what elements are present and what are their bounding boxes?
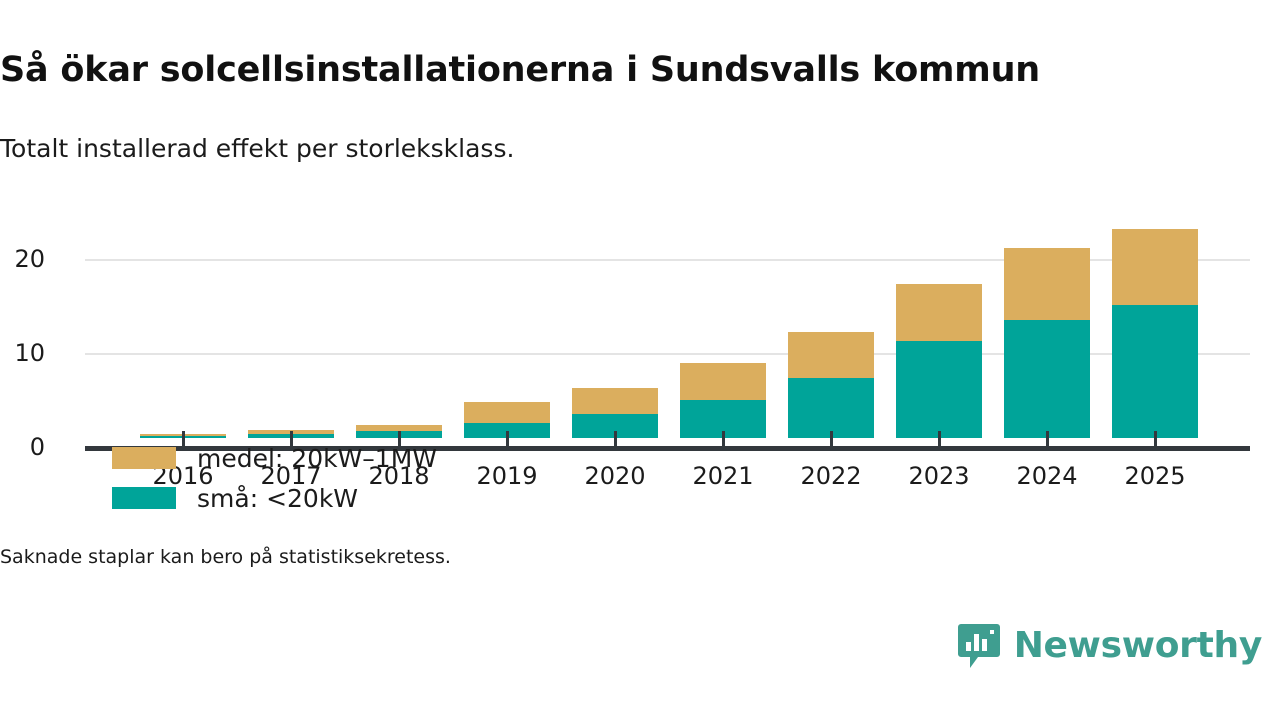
bar-segment-medium-2022[interactable] [788, 332, 874, 378]
x-axis-tick-2022 [830, 431, 833, 448]
x-axis-label-2022: 2022 [771, 462, 891, 490]
legend-swatch-medium-icon [112, 447, 176, 469]
legend-item-medium[interactable]: medel: 20kW–1MW [112, 438, 437, 478]
bar-segment-medium-2020[interactable] [572, 388, 658, 414]
y-axis-tick-label-20: 20 [0, 247, 45, 271]
bar-segment-medium-2023[interactable] [896, 284, 982, 341]
page-subtitle: Totalt installerad effekt per storlekskl… [0, 132, 1250, 166]
x-axis-tick-2019 [506, 431, 509, 448]
x-axis-label-2025: 2025 [1095, 462, 1215, 490]
legend-swatch-small-icon [112, 487, 176, 509]
x-axis-label-2021: 2021 [663, 462, 783, 490]
x-axis-tick-2024 [1046, 431, 1049, 448]
y-axis-tick-label-0: 0 [0, 435, 45, 459]
bar-segment-small-2024[interactable] [1004, 320, 1090, 438]
legend-label-small: små: <20kW [197, 486, 358, 511]
bar-segment-medium-2025[interactable] [1112, 229, 1198, 305]
y-axis-tick-label-10: 10 [0, 341, 45, 365]
chart-footnote: Saknade staplar kan bero på statistiksek… [0, 546, 451, 568]
x-axis-label-2024: 2024 [987, 462, 1107, 490]
x-axis-label-2020: 2020 [555, 462, 675, 490]
newsworthy-logo-text: Newsworthy [1014, 628, 1262, 664]
bar-segment-small-2023[interactable] [896, 341, 982, 438]
legend-label-medium: medel: 20kW–1MW [197, 446, 437, 471]
x-axis-tick-2020 [614, 431, 617, 448]
bar-series-container: 2016 2017 2018 2019 2020 2021 2022 2023 … [85, 210, 1250, 448]
bar-segment-medium-2024[interactable] [1004, 248, 1090, 320]
chart-page: Så ökar solcellsinstallationerna i Sunds… [0, 0, 1280, 720]
chart-legend: medel: 20kW–1MW små: <20kW [112, 438, 437, 518]
x-axis-tick-2021 [722, 431, 725, 448]
bar-segment-small-2025[interactable] [1112, 305, 1198, 438]
bar-chart-speech-bubble-icon [958, 624, 1000, 668]
bar-segment-medium-2019[interactable] [464, 402, 550, 423]
page-title: Så ökar solcellsinstallationerna i Sunds… [0, 48, 1250, 92]
bar-segment-medium-2021[interactable] [680, 363, 766, 400]
stacked-bar-chart: 20 10 0 [0, 210, 1280, 510]
newsworthy-logo[interactable]: Newsworthy [958, 624, 1262, 668]
bar-segment-small-2022[interactable] [788, 378, 874, 438]
x-axis-label-2023: 2023 [879, 462, 999, 490]
x-axis-tick-2023 [938, 431, 941, 448]
x-axis-tick-2025 [1154, 431, 1157, 448]
x-axis-label-2019: 2019 [447, 462, 567, 490]
legend-item-small[interactable]: små: <20kW [112, 478, 437, 518]
